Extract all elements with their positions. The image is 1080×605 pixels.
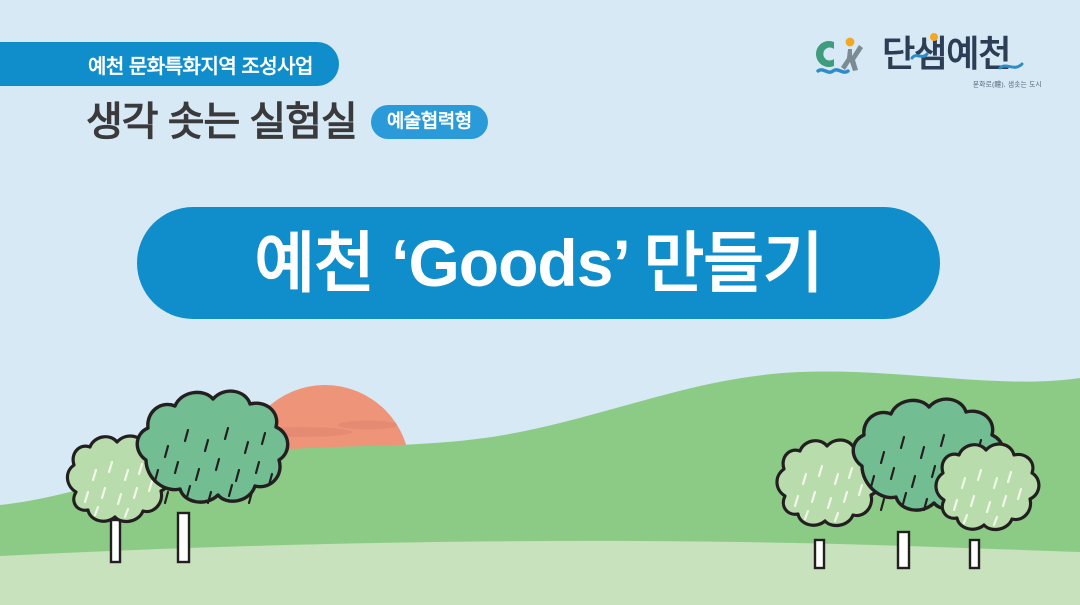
- sun-cloud-streaks: [246, 421, 425, 488]
- tree-right-small-a: [777, 440, 880, 568]
- sun-inner: [276, 448, 374, 546]
- yecheon-logo: 단샘예천 문화로(醴), 샘솟는 도시: [808, 30, 1042, 90]
- main-title-pill: 예천 ‘Goods’ 만들기: [137, 207, 940, 319]
- logo-wordmark-dot: [930, 33, 938, 41]
- logo-wordmark-text: 단샘예천: [882, 33, 1010, 74]
- subtitle: 생각 솟는 실험실: [86, 102, 357, 142]
- logo-orange-dot: [846, 38, 855, 47]
- tree-left-large: [137, 391, 287, 562]
- tree-texture: [85, 462, 152, 517]
- tree-texture: [871, 435, 988, 510]
- poster-canvas: 예천 문화특화지역 조성사업 생각 솟는 실험실 예술협력형 예천 ‘Goods…: [0, 0, 1080, 605]
- tree-right-small-b: [936, 444, 1039, 568]
- ground: [0, 541, 1080, 605]
- logo-text-block: 단샘예천 문화로(醴), 샘솟는 도시: [882, 30, 1042, 90]
- program-badge-label: 예천 문화특화지역 조성사업: [88, 50, 313, 79]
- program-badge: 예천 문화특화지역 조성사업: [0, 42, 339, 86]
- tree-texture: [795, 466, 862, 521]
- logo-tagline: 문화로(醴), 샘솟는 도시: [973, 80, 1042, 90]
- sun: [240, 385, 425, 555]
- logo-figure: [841, 45, 863, 71]
- subtitle-row: 생각 솟는 실험실 예술협력형: [86, 102, 488, 142]
- logo-wordmark: 단샘예천: [882, 30, 1042, 78]
- page-title: 예천 ‘Goods’ 만들기: [254, 230, 822, 296]
- sun-outer: [240, 385, 410, 555]
- logo-wave: [818, 70, 848, 72]
- logo-green-arc: [816, 41, 834, 67]
- tree-right-large: [853, 399, 1003, 568]
- tree-texture: [954, 470, 1021, 525]
- hill-back: [0, 372, 1080, 605]
- tree-texture: [155, 428, 272, 503]
- category-badge: 예술협력형: [371, 105, 488, 139]
- logo-mark-icon: [808, 30, 872, 80]
- tree-left-small: [67, 436, 169, 562]
